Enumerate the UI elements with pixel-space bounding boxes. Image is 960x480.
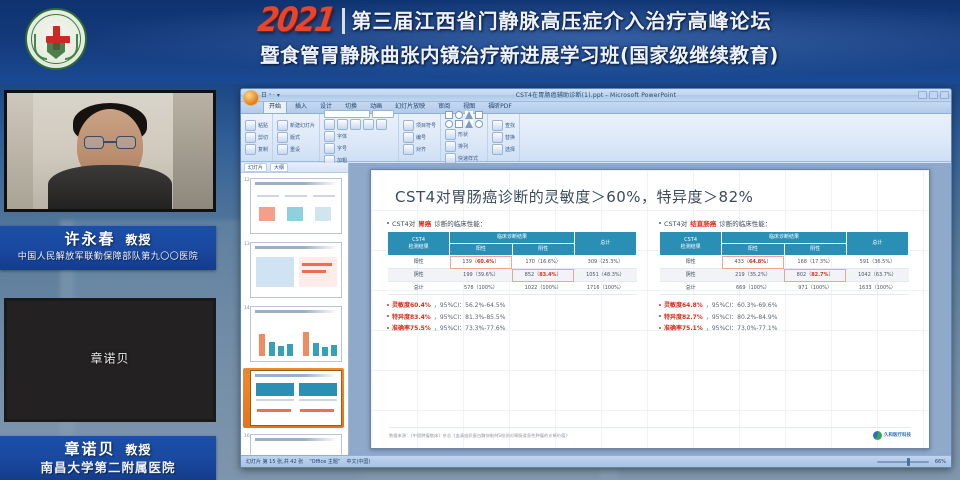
- stat-key: 准确率75.1%: [664, 323, 703, 332]
- stat-dot-icon: [659, 327, 661, 329]
- table-cell: 971（100%）: [784, 282, 846, 295]
- window-title-text: CST4在胃肠癌辅助诊断(1).ppt - Microsoft PowerPoi…: [241, 90, 951, 99]
- table-cell: 139（60.4%）: [450, 256, 512, 269]
- table-row-label: 阳性: [388, 256, 450, 269]
- ribbon[interactable]: 粘贴剪切复制新建幻灯片版式重设字体字号加粗项目符号编号对齐形状排列快速样式查找替…: [241, 114, 951, 162]
- ribbon-command-label: 选择: [505, 146, 515, 153]
- ribbon-command-4-1[interactable]: 排列: [445, 141, 483, 152]
- thumbnail-number: 15: [244, 370, 250, 375]
- video-placeholder-name: 章诺贝: [7, 349, 213, 366]
- speaker-video-primary[interactable]: [4, 90, 216, 212]
- ribbon-icon: [403, 120, 414, 131]
- current-slide[interactable]: CST4对胃肠癌诊断的灵敏度＞60%，特异度＞82% CST4对胃癌诊断的临床性…: [370, 169, 930, 449]
- bullet-dot-icon: [387, 222, 389, 224]
- ribbon-group-2: 字体字号加粗: [320, 114, 399, 161]
- stat-line-1: 特异度83.4%，95%CI：81.3%-85.5%: [387, 312, 639, 321]
- table-head-left: CST4检测结果临床诊断结果总计阳性阴性: [388, 232, 637, 256]
- bullet-left-highlight: 胃癌: [418, 218, 431, 228]
- minimize-icon[interactable]: [918, 91, 927, 99]
- speaker-name-2: 章诺贝教授: [0, 439, 216, 460]
- title-divider: [342, 8, 345, 34]
- slide-footnote: 数据来源：《中国肿瘤临床》杂志《血清组织蛋白酶抑制剂S检测对胃肠道恶性肿瘤的诊断…: [389, 433, 570, 439]
- table-subheader-0: 阳性: [450, 244, 512, 256]
- thumbnail-tab-0[interactable]: 幻灯片: [244, 163, 267, 172]
- ribbon-command-1-1[interactable]: 版式: [277, 132, 315, 143]
- table-cell: 669（100%）: [722, 282, 784, 295]
- thumbnail-preview: [250, 434, 342, 455]
- status-theme: “Office 主题”: [309, 458, 340, 465]
- slide-thumbnail-pane[interactable]: 幻灯片大纲 1213141516: [241, 163, 349, 455]
- table-group-header: 临床诊断结果: [450, 232, 575, 244]
- ribbon-command-5-1[interactable]: 替换: [492, 132, 515, 143]
- speaker-role-2: 教授: [126, 443, 152, 457]
- table-row-label: 总计: [388, 282, 450, 295]
- ribbon-icon: [277, 120, 288, 131]
- speaker-role-1: 教授: [126, 233, 152, 247]
- stat-dot-icon: [659, 304, 661, 306]
- ribbon-command-3-0[interactable]: 项目符号: [403, 120, 436, 131]
- clinical-table-right: CST4检测结果临床诊断结果总计阳性阴性 阳性433（64.8%）168（17.…: [659, 231, 909, 295]
- table-cell: 802（82.7%）: [784, 269, 846, 282]
- table-cell: 170（16.6%）: [512, 256, 574, 269]
- slide-canvas-area[interactable]: CST4对胃肠癌诊断的灵敏度＞60%，特异度＞82% CST4对胃癌诊断的临床性…: [349, 163, 951, 455]
- status-slide-counter: 幻灯片 第 15 张,共 42 张: [246, 458, 303, 465]
- bullet-right: CST4对结直肠癌诊断的临床性能：: [659, 218, 911, 228]
- ribbon-icon: [403, 132, 414, 143]
- event-title-line2: 暨食管胃静脉曲张内镜治疗新进展学习班(国家级继续教育): [258, 40, 948, 72]
- ribbon-command-2-0[interactable]: 字体: [324, 131, 394, 142]
- ribbon-command-2-1[interactable]: 字号: [324, 143, 394, 154]
- table-group-header: 临床诊断结果: [722, 232, 847, 244]
- slide-thumbnail[interactable]: 15: [243, 368, 344, 428]
- table-cell: 852（83.4%）: [512, 269, 574, 282]
- thumbnail-pane-tabs[interactable]: 幻灯片大纲: [241, 163, 348, 173]
- table-cell: 1051（48.3%）: [574, 269, 636, 282]
- ribbon-tab-8[interactable]: 福昕PDF: [483, 101, 517, 113]
- ribbon-command-label: 复制: [258, 146, 268, 153]
- ribbon-tab-1[interactable]: 插入: [290, 101, 312, 113]
- stat-dot-icon: [387, 304, 389, 306]
- ribbon-command-1-2[interactable]: 重设: [277, 144, 315, 155]
- speaker-name-text-1: 许永春: [64, 230, 115, 248]
- ribbon-command-label: 项目符号: [416, 122, 436, 129]
- stat-ci: ，95%CI：60.3%-69.6%: [706, 300, 778, 309]
- table-cell: 1022（100%）: [512, 282, 574, 295]
- slide-footer: 数据来源：《中国肿瘤临床》杂志《血清组织蛋白酶抑制剂S检测对胃肠道恶性肿瘤的诊断…: [389, 427, 911, 440]
- slide-column-right: CST4对结直肠癌诊断的临床性能： CST4检测结果临床诊断结果总计阳性阴性 阳…: [659, 218, 911, 335]
- quick-access-toolbar[interactable]: 日 ᵓ · ▾: [261, 90, 280, 99]
- table-cell: 433（64.8%）: [722, 256, 784, 269]
- table-subheader-0: 阳性: [722, 244, 784, 256]
- table-cell: 591（36.5%）: [846, 256, 908, 269]
- thumbnail-number: 13: [244, 242, 250, 247]
- stat-dot-icon: [659, 315, 661, 317]
- ribbon-group-5: 查找替换选择: [488, 114, 520, 161]
- ribbon-group-1: 新建幻灯片版式重设: [273, 114, 320, 161]
- speaker-org-2: 南昌大学第二附属医院: [0, 460, 216, 475]
- table-cell: 168（17.3%）: [784, 256, 846, 269]
- status-language: 中文(中国): [346, 458, 370, 465]
- table-header-row-1: CST4检测结果临床诊断结果总计: [660, 232, 909, 244]
- company-logo-text: 久和医疗科技: [884, 433, 911, 438]
- stat-line-0: 灵敏度60.4%，95%CI：56.2%-64.5%: [387, 300, 639, 309]
- ribbon-command-0-0[interactable]: 粘贴: [245, 120, 268, 131]
- ribbon-command-label: 对齐: [416, 146, 426, 153]
- stat-ci: ，95%CI：56.2%-64.5%: [434, 300, 506, 309]
- ribbon-command-label: 剪切: [258, 134, 268, 141]
- ribbon-group-0: 粘贴剪切复制: [241, 114, 273, 161]
- table-total-header: 总计: [846, 232, 908, 256]
- event-header: 2021 第三届江西省门静脉高压症介入治疗高峰论坛 暨食管胃静脉曲张内镜治疗新进…: [0, 0, 960, 84]
- ribbon-command-5-0[interactable]: 查找: [492, 120, 515, 131]
- event-title-line1: 第三届江西省门静脉高压症介入治疗高峰论坛: [352, 5, 772, 37]
- ribbon-icon: [403, 144, 414, 155]
- speaker-name-1: 许永春教授: [0, 229, 216, 250]
- broadcast-stage: 2021 第三届江西省门静脉高压症介入治疗高峰论坛 暨食管胃静脉曲张内镜治疗新进…: [0, 0, 960, 480]
- stat-ci: ，95%CI：73.0%-77.1%: [706, 323, 778, 332]
- stats-right: 灵敏度64.8%，95%CI：60.3%-69.6%特异度82.7%，95%CI…: [659, 300, 911, 332]
- ribbon-command-label: 字体: [337, 133, 347, 140]
- table-cell: 1042（63.7%）: [846, 269, 908, 282]
- stat-ci: ，95%CI：73.3%-77.6%: [434, 323, 506, 332]
- thumbnail-preview: [250, 178, 342, 234]
- ribbon-icon: [277, 144, 288, 155]
- stats-left: 灵敏度60.4%，95%CI：56.2%-64.5%特异度83.4%，95%CI…: [387, 300, 639, 332]
- zoom-slider[interactable]: [877, 461, 929, 463]
- table-corner-header: CST4检测结果: [660, 232, 722, 256]
- table-row: 阴性199（39.6%）852（83.4%）1051（48.3%）: [388, 269, 637, 282]
- ribbon-command-1-0[interactable]: 新建幻灯片: [277, 120, 315, 131]
- powerpoint-window[interactable]: CST4在胃肠癌辅助诊断(1).ppt - Microsoft PowerPoi…: [240, 88, 952, 468]
- ribbon-command-label: 版式: [290, 134, 300, 141]
- speaker-portrait: [7, 93, 213, 209]
- speaker-video-secondary[interactable]: 章诺贝: [4, 298, 216, 422]
- stat-key: 特异度82.7%: [664, 312, 703, 321]
- ribbon-group-3: 项目符号编号对齐: [399, 114, 441, 161]
- clinical-table-left: CST4检测结果临床诊断结果总计阳性阴性 阳性139（60.4%）170（16.…: [387, 231, 637, 295]
- stat-key: 特异度83.4%: [392, 312, 431, 321]
- stat-key: 准确率75.5%: [392, 323, 431, 332]
- ribbon-icon: [277, 132, 288, 143]
- ribbon-icon: [445, 129, 456, 140]
- table-row: 阳性433（64.8%）168（17.3%）591（36.5%）: [660, 256, 909, 269]
- table-head-right: CST4检测结果临床诊断结果总计阳性阴性: [660, 232, 909, 256]
- ribbon-command-label: 替换: [505, 134, 515, 141]
- thumbnail-number: 12: [244, 178, 250, 183]
- ribbon-command-3-1[interactable]: 编号: [403, 132, 436, 143]
- status-bar[interactable]: 幻灯片 第 15 张,共 42 张 “Office 主题” 中文(中国) 66%: [241, 455, 951, 467]
- ribbon-icon: [445, 141, 456, 152]
- table-body-left: 阳性139（60.4%）170（16.6%）309（25.3%）阴性199（39…: [388, 256, 637, 295]
- event-title-block: 2021 第三届江西省门静脉高压症介入治疗高峰论坛 暨食管胃静脉曲张内镜治疗新进…: [258, 4, 948, 72]
- speaker-nameplate-1: 许永春教授 中国人民解放军联勤保障部队第九〇〇医院: [0, 226, 216, 270]
- hospital-emblem-icon: [25, 8, 87, 70]
- ribbon-command-label: 重设: [290, 146, 300, 153]
- table-cell: 309（25.3%）: [574, 256, 636, 269]
- table-cell: 1633（100%）: [846, 282, 908, 295]
- table-subheader-1: 阴性: [784, 244, 846, 256]
- ribbon-command-label: 查找: [505, 122, 515, 129]
- table-total-header: 总计: [574, 232, 636, 256]
- window-title-bar[interactable]: CST4在胃肠癌辅助诊断(1).ppt - Microsoft PowerPoi…: [241, 89, 951, 102]
- speaker-column: 许永春教授 中国人民解放军联勤保障部队第九〇〇医院 章诺贝 章诺贝教授 南昌大学…: [0, 84, 232, 480]
- table-body-right: 阳性433（64.8%）168（17.3%）591（36.5%）阴性219（35…: [660, 256, 909, 295]
- stat-line-0: 灵敏度64.8%，95%CI：60.3%-69.6%: [659, 300, 911, 309]
- ribbon-command-4-0[interactable]: 形状: [445, 129, 483, 140]
- ribbon-icon: [492, 132, 503, 143]
- ribbon-command-label: 编号: [416, 134, 426, 141]
- company-logo: 久和医疗科技: [873, 431, 911, 440]
- ribbon-command-label: 新建幻灯片: [290, 122, 315, 129]
- company-logo-icon: [873, 431, 882, 440]
- table-row: 总计578（100%）1022（100%）1716（100%）: [388, 282, 637, 295]
- speaker-name-text-2: 章诺贝: [64, 440, 115, 458]
- zoom-level: 66%: [935, 459, 946, 465]
- office-orb-button[interactable]: [243, 90, 259, 106]
- ribbon-icon: [245, 144, 256, 155]
- table-cell: 219（35.2%）: [722, 269, 784, 282]
- table-header-row-1: CST4检测结果临床诊断结果总计: [388, 232, 637, 244]
- ribbon-command-label: 排列: [458, 143, 468, 150]
- ribbon-tab-5[interactable]: 幻灯片放映: [390, 101, 430, 113]
- thumbnail-preview: [250, 370, 342, 426]
- table-cell: 1716（100%）: [574, 282, 636, 295]
- ribbon-icon: [492, 120, 503, 131]
- table-row: 总计669（100%）971（100%）1633（100%）: [660, 282, 909, 295]
- slide-thumbnail[interactable]: 16: [243, 432, 344, 455]
- table-row-label: 阳性: [660, 256, 722, 269]
- maximize-icon[interactable]: [929, 91, 938, 99]
- ribbon-icon: [245, 120, 256, 131]
- ribbon-icon: [245, 132, 256, 143]
- table-subheader-1: 阴性: [512, 244, 574, 256]
- window-controls[interactable]: [918, 91, 949, 99]
- stat-ci: ，95%CI：81.3%-85.5%: [434, 312, 506, 321]
- bullet-right-highlight: 结直肠癌: [690, 218, 716, 228]
- thumbnail-preview: [250, 242, 342, 298]
- slide-thumbnail[interactable]: 13: [243, 240, 344, 300]
- table-cell: 199（39.6%）: [450, 269, 512, 282]
- table-row-label: 阴性: [388, 269, 450, 282]
- ribbon-icon: [492, 144, 503, 155]
- slide-thumbnail[interactable]: 14: [243, 304, 344, 364]
- stat-line-2: 准确率75.1%，95%CI：73.0%-77.1%: [659, 323, 911, 332]
- ribbon-command-label: 粘贴: [258, 122, 268, 129]
- bullet-dot-icon: [659, 222, 661, 224]
- thumbnail-list[interactable]: 1213141516: [241, 173, 348, 455]
- ribbon-icon: [324, 131, 335, 142]
- stat-line-2: 准确率75.5%，95%CI：73.3%-77.6%: [387, 323, 639, 332]
- glasses-icon: [84, 136, 136, 149]
- speaker-nameplate-2: 章诺贝教授 南昌大学第二附属医院: [0, 436, 216, 480]
- ribbon-command-label: 形状: [458, 131, 468, 138]
- stat-dot-icon: [387, 315, 389, 317]
- table-row: 阳性139（60.4%）170（16.6%）309（25.3%）: [388, 256, 637, 269]
- speaker-org-1: 中国人民解放军联勤保障部队第九〇〇医院: [0, 250, 216, 265]
- ribbon-command-label: 快速样式: [458, 155, 478, 162]
- thumbnail-number: 14: [244, 306, 250, 311]
- slide-thumbnail[interactable]: 12: [243, 176, 344, 236]
- ribbon-command-5-2[interactable]: 选择: [492, 144, 515, 155]
- table-corner-header: CST4检测结果: [388, 232, 450, 256]
- table-cell: 578（100%）: [450, 282, 512, 295]
- slide-title: CST4对胃肠癌诊断的灵敏度＞60%，特异度＞82%: [395, 186, 753, 207]
- ribbon-command-0-1[interactable]: 剪切: [245, 132, 268, 143]
- stat-line-1: 特异度82.7%，95%CI：80.2%-84.9%: [659, 312, 911, 321]
- stat-ci: ，95%CI：80.2%-84.9%: [706, 312, 778, 321]
- table-row-label: 阴性: [660, 269, 722, 282]
- bullet-left: CST4对胃癌诊断的临床性能：: [387, 218, 639, 228]
- table-row: 阴性219（35.2%）802（82.7%）1042（63.7%）: [660, 269, 909, 282]
- slide-column-left: CST4对胃癌诊断的临床性能： CST4检测结果临床诊断结果总计阳性阴性 阳性1…: [387, 218, 639, 335]
- ribbon-command-3-2[interactable]: 对齐: [403, 144, 436, 155]
- thumbnail-number: 16: [244, 434, 250, 439]
- ribbon-group-4: 形状排列快速样式: [441, 114, 488, 161]
- ribbon-icon: [324, 143, 335, 154]
- ribbon-command-0-2[interactable]: 复制: [245, 144, 268, 155]
- editor-body: 幻灯片大纲 1213141516 CST4对胃肠癌诊断的灵敏度＞60%，特异度＞…: [241, 163, 951, 455]
- year-logo: 2021: [255, 2, 342, 40]
- close-icon[interactable]: [940, 91, 949, 99]
- thumbnail-tab-1[interactable]: 大纲: [270, 163, 288, 172]
- ribbon-command-label: 字号: [337, 145, 347, 152]
- stat-key: 灵敏度64.8%: [664, 300, 703, 309]
- stat-key: 灵敏度60.4%: [392, 300, 431, 309]
- table-row-label: 总计: [660, 282, 722, 295]
- stat-dot-icon: [387, 327, 389, 329]
- thumbnail-preview: [250, 306, 342, 362]
